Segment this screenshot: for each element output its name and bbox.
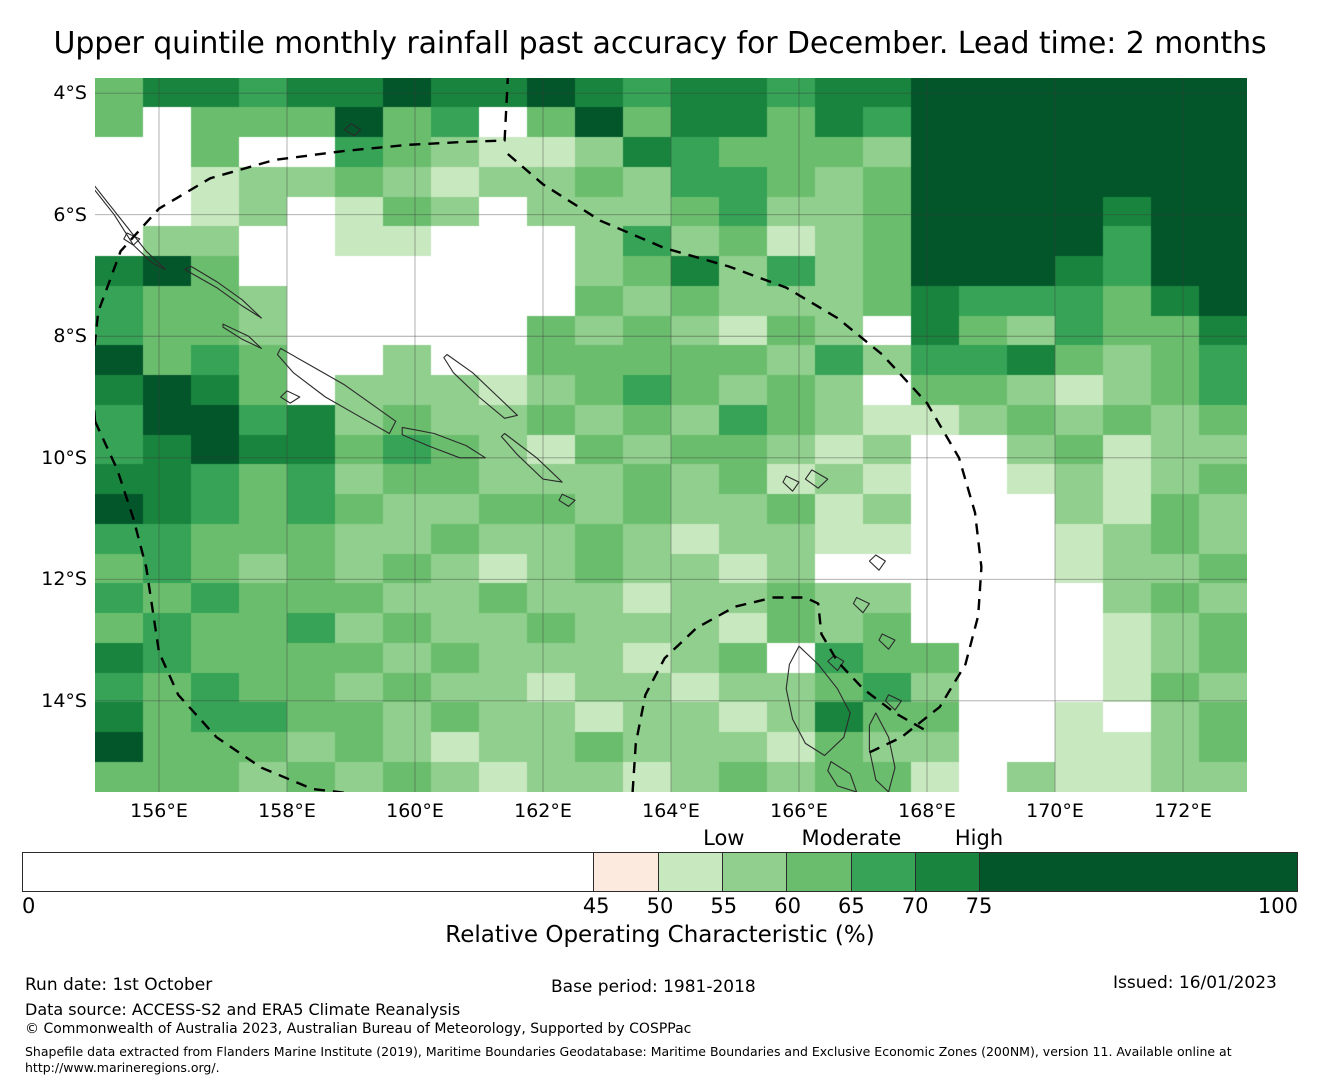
colorbar-category-label: Moderate (801, 826, 901, 850)
colorbar-segment (786, 853, 850, 891)
shapefile-note-line1: Shapefile data extracted from Flanders M… (25, 1044, 1232, 1059)
colorbar-tick-label: 60 (774, 894, 801, 918)
longitude-tick-label: 166°E (770, 800, 828, 822)
longitude-tick-label: 158°E (258, 800, 316, 822)
colorbar-tick-label: 55 (710, 894, 737, 918)
map-overlay (95, 78, 1247, 792)
copyright-text: © Commonwealth of Australia 2023, Austra… (25, 1021, 691, 1037)
colorbar-gradient (22, 852, 1298, 892)
colorbar-category-label: Low (703, 826, 744, 850)
colorbar-axis-label: Relative Operating Characteristic (%) (445, 922, 874, 948)
colorbar-tick-label: 100 (1258, 894, 1298, 918)
colorbar-segment (722, 853, 786, 891)
colorbar-segment (593, 853, 657, 891)
data-source-text: Data source: ACCESS-S2 and ERA5 Climate … (25, 1000, 460, 1019)
longitude-tick-label: 156°E (130, 800, 188, 822)
colorbar-category-label: High (955, 826, 1003, 850)
latitude-tick-label: 10°S (41, 447, 87, 469)
colorbar-segment (23, 853, 593, 891)
map-plot-area (95, 78, 1247, 792)
colorbar-tick-label: 65 (838, 894, 865, 918)
base-period-text: Base period: 1981-2018 (551, 977, 756, 997)
eez-boundary-dashed (95, 78, 981, 792)
page-title: Upper quintile monthly rainfall past acc… (53, 26, 1266, 61)
longitude-tick-label: 172°E (1154, 800, 1212, 822)
colorbar-tick-label: 45 (583, 894, 610, 918)
colorbar-tick-label: 75 (966, 894, 993, 918)
issued-date-text: Issued: 16/01/2023 (1113, 973, 1277, 993)
latitude-tick-label: 8°S (53, 325, 87, 347)
colorbar (22, 852, 1298, 892)
latitude-tick-label: 14°S (41, 690, 87, 712)
longitude-tick-label: 170°E (1026, 800, 1084, 822)
latitude-tick-label: 6°S (53, 204, 87, 226)
shapefile-note-line2: http://www.marineregions.org/. (25, 1060, 220, 1075)
longitude-tick-label: 160°E (386, 800, 444, 822)
run-date-text: Run date: 1st October (25, 975, 212, 995)
colorbar-segment (658, 853, 722, 891)
longitude-tick-label: 162°E (514, 800, 572, 822)
colorbar-tick-label: 0 (22, 894, 35, 918)
map-gridlines (95, 78, 1247, 792)
longitude-tick-label: 164°E (642, 800, 700, 822)
latitude-tick-label: 12°S (41, 568, 87, 590)
colorbar-tick-label: 70 (902, 894, 929, 918)
colorbar-segment (851, 853, 915, 891)
latitude-tick-label: 4°S (53, 82, 87, 104)
colorbar-segment (915, 853, 979, 891)
colorbar-tick-label: 50 (647, 894, 674, 918)
longitude-tick-label: 168°E (898, 800, 956, 822)
colorbar-segment (979, 853, 1297, 891)
